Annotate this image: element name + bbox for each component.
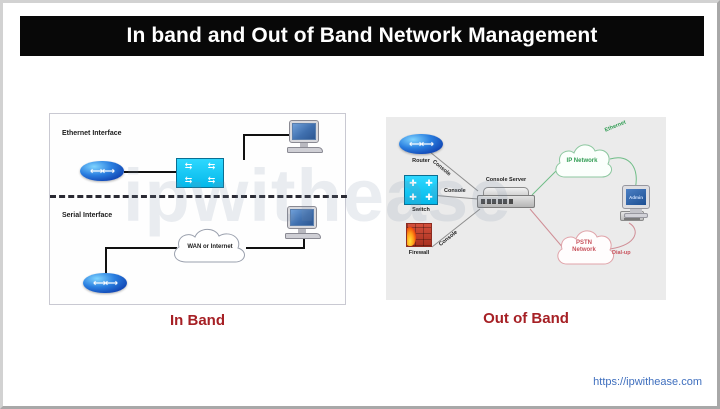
pc-monitor	[289, 120, 319, 143]
pstn-label-line2: Network	[572, 247, 596, 254]
pstn-network-label: PSTN Network	[553, 222, 615, 272]
dialup-link-label: Dial-up	[612, 250, 631, 256]
in-band-caption: In Band	[49, 312, 346, 329]
pc-screen	[290, 209, 314, 226]
router-icon: ⟷⟷	[399, 131, 443, 157]
pc-keyboard	[287, 147, 323, 153]
wire-switch-up	[243, 134, 245, 160]
in-band-diagram-panel: Ethernet Interface Serial Interface ⟷⟷ ⇆…	[49, 113, 346, 305]
firewall-label: Firewall	[391, 250, 447, 256]
router-icon: ⟷⟷	[80, 158, 124, 184]
interface-divider	[50, 195, 347, 198]
switch-arrow-3: ✚	[409, 193, 417, 202]
page-title: In band and Out of Band Network Manageme…	[127, 24, 598, 48]
switch-arrow-4: ⇆	[208, 176, 216, 185]
wan-cloud-label: WAN or Internet	[168, 224, 252, 270]
console-server-label: Console Server	[471, 177, 541, 183]
ethernet-interface-label: Ethernet Interface	[62, 130, 122, 137]
firewall-icon	[406, 223, 432, 247]
switch-icon: ⇆ ⇆ ⇆ ⇆	[176, 158, 224, 188]
router-icon-serial: ⟷⟷	[83, 270, 127, 296]
admin-foot	[624, 213, 648, 218]
firewall-flame	[406, 227, 416, 246]
footer-url[interactable]: https://ipwithease.com	[593, 376, 702, 388]
out-of-band-caption: Out of Band	[386, 310, 666, 327]
pc-monitor	[287, 206, 317, 229]
pstn-label-line1: PSTN	[576, 240, 592, 247]
admin-pc-icon: Admin	[622, 185, 650, 219]
switch-arrow-4: ✚	[425, 193, 433, 202]
pstn-network-cloud: PSTN Network	[553, 222, 615, 272]
slide-title-bar: In band and Out of Band Network Manageme…	[20, 16, 704, 56]
console-link-label-switch: Console	[444, 188, 466, 194]
wire-router-to-switch	[124, 171, 176, 173]
switch-arrow-2: ⇆	[208, 162, 216, 171]
switch-arrow-3: ⇆	[185, 176, 193, 185]
router-arrows: ⟷⟷	[88, 166, 116, 177]
out-of-band-diagram-panel: ⟷⟷ Router ✚ ✚ ✚ ✚ Switch Firewall Consol…	[386, 117, 666, 300]
ip-network-label: IP Network	[551, 137, 613, 185]
pc-keyboard	[285, 233, 321, 239]
console-server-ports	[481, 199, 513, 204]
switch-icon: ✚ ✚ ✚ ✚	[404, 175, 438, 205]
wan-internet-cloud: WAN or Internet	[168, 224, 252, 270]
router-arrows: ⟷⟷	[91, 278, 119, 289]
wire-cloud-to-pc	[246, 247, 305, 249]
switch-arrow-1: ✚	[409, 179, 417, 188]
wire-serial-router-to-cloud	[105, 247, 177, 249]
ip-network-cloud: IP Network	[551, 137, 613, 185]
switch-label: Switch	[393, 207, 449, 213]
switch-arrow-1: ⇆	[185, 162, 193, 171]
admin-monitor: Admin	[622, 185, 650, 209]
console-server-icon	[477, 187, 535, 209]
admin-screen-label: Admin	[626, 189, 646, 205]
switch-arrow-2: ✚	[425, 179, 433, 188]
pc-screen	[292, 123, 316, 140]
router-arrows: ⟷⟷	[407, 139, 435, 150]
slide-canvas: In band and Out of Band Network Manageme…	[0, 0, 720, 409]
serial-interface-label: Serial Interface	[62, 212, 112, 219]
